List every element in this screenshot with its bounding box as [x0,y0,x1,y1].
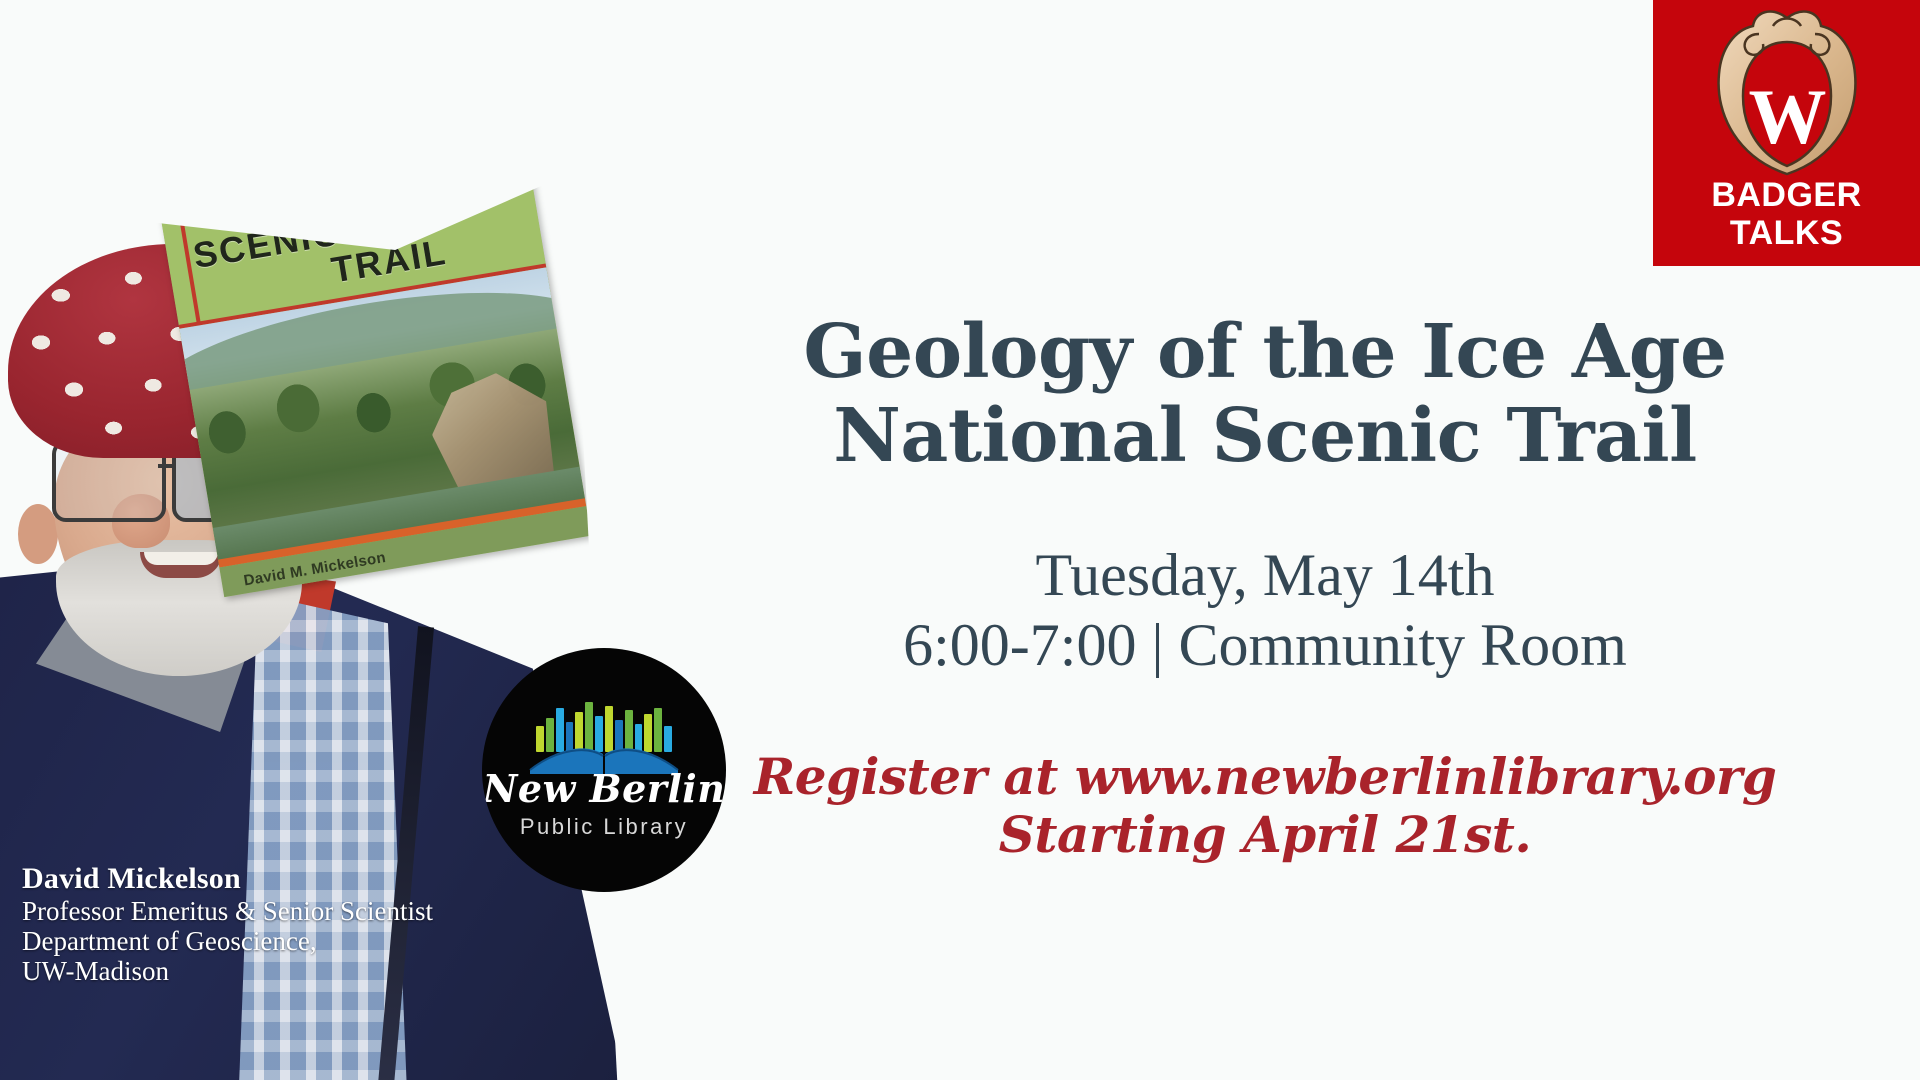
page-title-line1: Geology of the Ice Age [640,310,1890,394]
badger-talks-logo[interactable]: W BADGER TALKS [1653,0,1920,266]
page-title: Geology of the Ice Age National Scenic T… [640,310,1890,478]
badger-crest-letter: W [1749,78,1825,156]
poster-canvas: GEOLOGY OF THE ICE AGE NATIONAL SCENIC T… [0,0,1920,1080]
speaker-name: David Mickelson [22,862,662,896]
badger-talks-line2: TALKS [1653,214,1920,252]
event-date: Tuesday, May 14th [640,540,1890,610]
speaker-role-line3: UW-Madison [22,956,662,986]
speaker-role-line1: Professor Emeritus & Senior Scientist [22,896,662,926]
speaker-teeth [144,552,218,565]
page-title-line2: National Scenic Trail [640,394,1890,478]
speaker-credit: David Mickelson Professor Emeritus & Sen… [22,862,662,986]
registration-url-line: Register at www.newberlinlibrary.org [640,748,1890,806]
speaker-role-line2: Department of Geoscience, [22,926,662,956]
event-time-and-location: 6:00-7:00 | Community Room [640,610,1890,680]
registration-start-date-line: Starting April 21st. [640,806,1890,864]
event-schedule: Tuesday, May 14th 6:00-7:00 | Community … [640,540,1890,680]
badger-talks-line1: BADGER [1653,176,1920,214]
registration-callout[interactable]: Register at www.newberlinlibrary.org Sta… [640,748,1890,864]
